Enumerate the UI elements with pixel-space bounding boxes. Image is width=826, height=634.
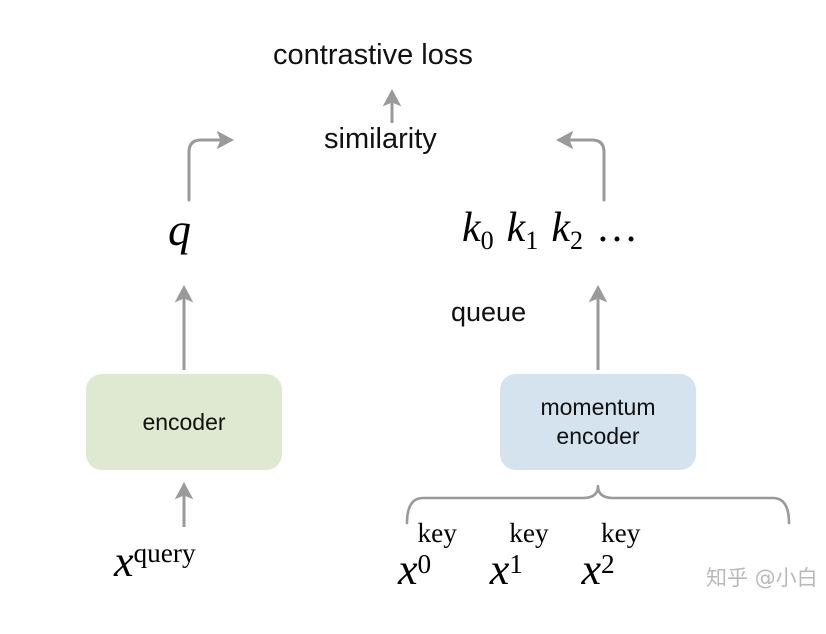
query-input-base: x [114, 537, 134, 586]
key-inputs-brace [407, 486, 789, 523]
key-input-2-scripts: key2 [601, 540, 647, 584]
query-vector-symbol: q [168, 207, 191, 253]
arrow-q-to-similarity [189, 140, 231, 200]
momentum-encoder-label-line2: encoder [540, 422, 655, 451]
key-vector-1-base: k [507, 205, 526, 251]
key-vector-2-subscript: 2 [570, 226, 583, 255]
key-input-0-subscript: 0 [418, 551, 432, 578]
key-vector-2-base: k [551, 205, 570, 251]
arrow-k-to-similarity [559, 140, 604, 200]
moco-architecture-diagram: contrastive loss similarity queue q k0k1… [0, 0, 826, 634]
query-input-superscript: query [134, 538, 196, 568]
key-input-0-superscript: key [418, 520, 457, 547]
zhihu-watermark: 知乎 @小白 [706, 562, 818, 592]
key-input-1-superscript: key [509, 520, 548, 547]
contrastive-loss-label: contrastive loss [273, 41, 473, 70]
key-input-1-base: x [490, 545, 510, 594]
key-input-2-subscript: 2 [601, 551, 615, 578]
key-input-symbols: xkey0xkey1xkey2 [398, 540, 647, 592]
key-input-0-scripts: key0 [418, 540, 464, 584]
similarity-label: similarity [324, 125, 437, 154]
key-vector-0-base: k [462, 205, 481, 251]
key-input-2-base: x [581, 545, 601, 594]
key-vector-ellipsis: … [596, 205, 638, 251]
key-vector-0-subscript: 0 [481, 226, 494, 255]
query-input-symbol: xquery [114, 540, 196, 584]
key-vector-symbols: k0k1k2… [462, 207, 638, 249]
encoder-box: encoder [86, 374, 282, 470]
key-vector-1-subscript: 1 [525, 226, 538, 255]
queue-label: queue [451, 299, 526, 326]
key-input-1-subscript: 1 [509, 551, 523, 578]
momentum-encoder-label-line1: momentum [540, 393, 655, 422]
key-input-1-scripts: key1 [509, 540, 555, 584]
momentum-encoder-box: momentum encoder [500, 374, 696, 470]
key-input-2-superscript: key [601, 520, 640, 547]
key-input-0-base: x [398, 545, 418, 594]
